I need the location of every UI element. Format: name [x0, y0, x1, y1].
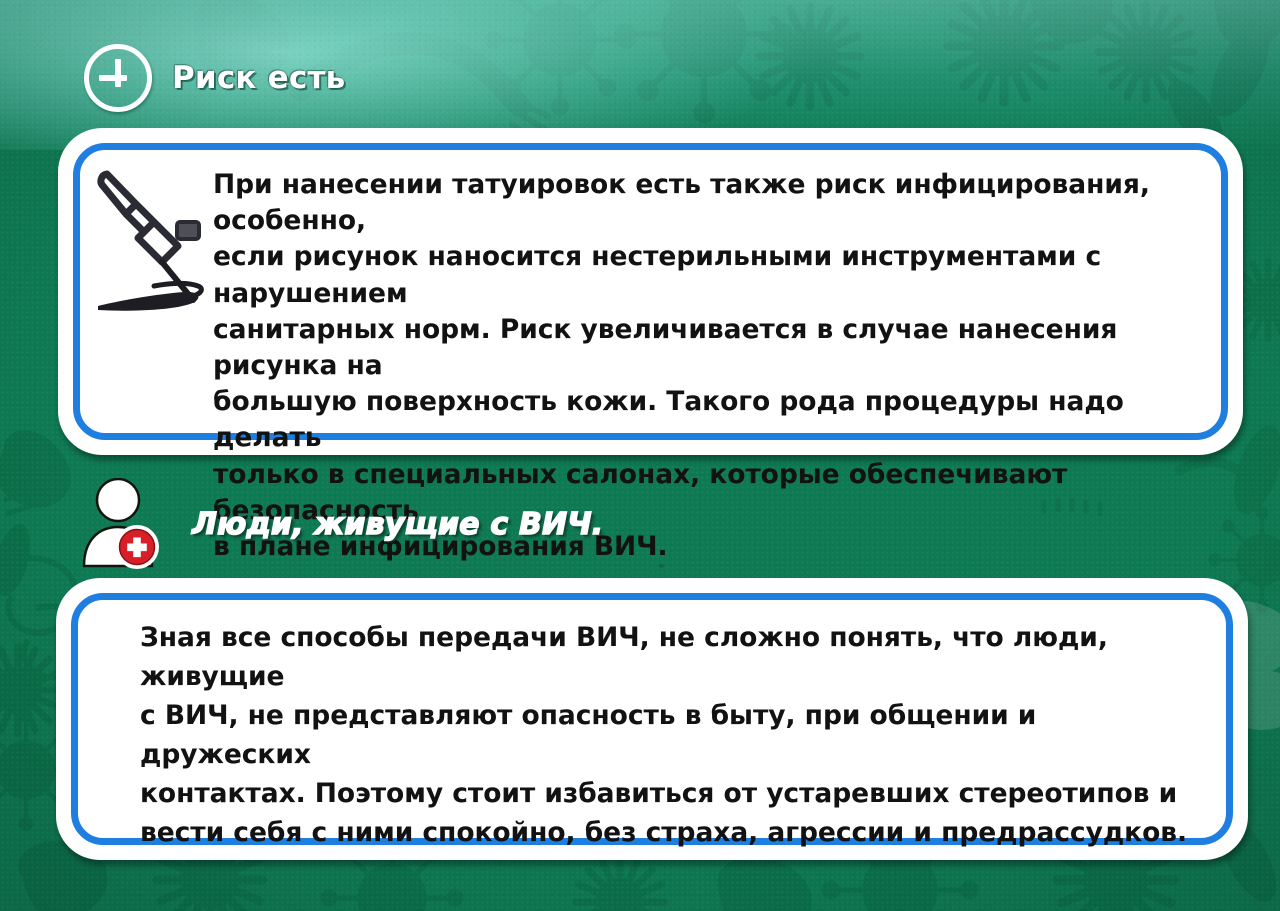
plhiv-text-line: с ВИЧ, не представляют опасность в быту,…: [140, 696, 1212, 774]
tattoo-text-line: санитарных норм. Риск увеличивается в сл…: [213, 312, 1213, 384]
plhiv-text-line: Зная все способы передачи ВИЧ, не сложно…: [140, 618, 1212, 696]
section-heading-risk: Риск есть: [84, 44, 345, 112]
plhiv-heading-label: Люди, живущие с ВИЧ.: [192, 507, 603, 542]
section-heading-plhiv: Люди, живущие с ВИЧ.: [78, 478, 603, 570]
plhiv-card-text: Зная все способы передачи ВИЧ, не сложно…: [140, 618, 1212, 852]
plhiv-text-line: контактах. Поэтому стоит избавиться от у…: [140, 774, 1212, 813]
tattoo-machine-icon: [92, 160, 212, 320]
plhiv-info-card: Зная все способы передачи ВИЧ, не сложно…: [56, 578, 1248, 860]
person-with-medical-cross-icon: [78, 478, 174, 570]
plus-circle-icon: [84, 44, 152, 112]
tattoo-info-card: При нанесении татуировок есть также риск…: [58, 128, 1243, 455]
tattoo-text-line: если рисунок наносится нестерильными инс…: [213, 239, 1213, 311]
brochure-page: Риск есть При нанесении татуировок есть …: [0, 0, 1280, 911]
risk-heading-label: Риск есть: [172, 60, 345, 96]
tattoo-text-line: При нанесении татуировок есть также риск…: [213, 167, 1213, 239]
plhiv-text-line: вести себя с ними спокойно, без страха, …: [140, 813, 1212, 852]
tattoo-text-line: большую поверхность кожи. Такого рода пр…: [213, 384, 1213, 456]
